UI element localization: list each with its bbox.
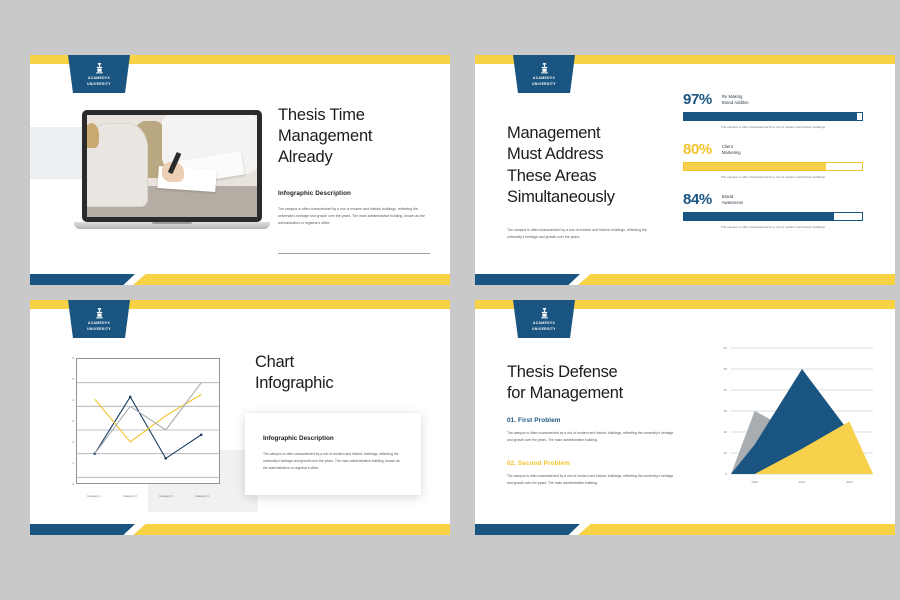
y-axis-tick-label: 2 [60, 440, 74, 444]
y-axis-tick-label: 20 [715, 430, 727, 434]
slide1-divider [278, 253, 430, 254]
stat-note: The campus is often characterized by a m… [683, 225, 863, 229]
stat-note: The campus is often characterized by a m… [683, 175, 863, 179]
bottom-accent-bar [30, 274, 450, 285]
slide2-body-text: The campus is often characterized by a m… [507, 227, 647, 241]
problem-text: The campus is often characterized by a m… [507, 430, 675, 444]
y-axis-tick-label: 6 [60, 356, 74, 360]
x-axis-tick-label: 2020 [751, 480, 758, 484]
bottom-accent-bar [475, 524, 895, 535]
logo-line-2: UNIVERSITY [87, 327, 111, 331]
problem-item-2: 02. Second Problem The campus is often c… [507, 460, 675, 487]
y-axis-tick-label: 0 [60, 482, 74, 486]
line-chart-plot-area [76, 358, 220, 484]
y-axis-tick-label: 4 [60, 398, 74, 402]
university-crest-icon [93, 307, 106, 320]
y-axis-tick-label: 10 [715, 451, 727, 455]
slide-chart-infographic[interactable]: ACAMEDYX UNIVERSITY 0123456 Category 1Ca… [30, 300, 450, 535]
slide2-title: Management Must Address These Areas Simu… [507, 123, 667, 209]
logo-line-2: UNIVERSITY [87, 82, 111, 86]
progress-bar-fill [684, 163, 826, 170]
stat-label: Client Marketing [722, 141, 741, 157]
logo-line-1: ACAMEDYX [533, 321, 555, 325]
university-logo-badge: ACAMEDYX UNIVERSITY [513, 300, 575, 338]
area-chart-series-svg [715, 342, 875, 502]
progress-bar-track [683, 112, 863, 121]
logo-line-2: UNIVERSITY [532, 327, 556, 331]
stat-percent: 97% [683, 91, 712, 108]
bottom-accent-bar [475, 274, 895, 285]
slide-deck: ACAMEDYX UNIVERSITY [0, 0, 900, 600]
university-crest-icon [93, 62, 106, 75]
logo-line-2: UNIVERSITY [532, 82, 556, 86]
problem-heading: 02. Second Problem [507, 460, 675, 467]
x-axis-tick-label: Category 2 [123, 494, 137, 498]
x-axis-tick-label: 2022 [846, 480, 853, 484]
x-axis-tick-label: Category 3 [159, 494, 173, 498]
stat-label: Re Making Brand Additve [722, 91, 749, 107]
logo-line-1: ACAMEDYX [88, 76, 110, 80]
university-logo-badge: ACAMEDYX UNIVERSITY [513, 55, 575, 93]
x-axis-tick-label: Category 4 [195, 494, 209, 498]
slide3-title: Chart Infographic [255, 352, 425, 395]
slide1-body-text: The campus is often characterized by a m… [278, 206, 430, 228]
progress-bar-fill [684, 113, 857, 120]
problem-heading: 01. First Problem [507, 417, 675, 424]
y-axis-tick-label: 50 [715, 367, 727, 371]
laptop-mockup [82, 110, 262, 229]
y-axis-tick-label: 40 [715, 388, 727, 392]
slide-thesis-time-management[interactable]: ACAMEDYX UNIVERSITY [30, 55, 450, 285]
stat-percent: 80% [683, 141, 712, 158]
line-chart: 0123456 Category 1Category 2Category 3Ca… [60, 358, 222, 498]
slide1-title: Thesis Time Management Already [278, 105, 438, 168]
progress-bar-track [683, 162, 863, 171]
university-crest-icon [538, 307, 551, 320]
logo-line-1: ACAMEDYX [533, 76, 555, 80]
photo-two-people-signing [87, 115, 257, 217]
stat-percent: 84% [683, 191, 712, 208]
slide-management-must-address[interactable]: ACAMEDYX UNIVERSITY Management Must Addr… [475, 55, 895, 285]
decorative-gray-band [30, 127, 90, 179]
laptop-screen [82, 110, 262, 222]
slide1-subtitle: Infographic Description [278, 190, 351, 197]
y-axis-tick-label: 1 [60, 461, 74, 465]
y-axis-tick-label: 0 [715, 472, 727, 476]
card-body-text: The campus is often characterized by a m… [263, 451, 405, 472]
x-axis-tick-label: Category 1 [87, 494, 101, 498]
slide-thesis-defense[interactable]: ACAMEDYX UNIVERSITY Thesis Defense for M… [475, 300, 895, 535]
problem-text: The campus is often characterized by a m… [507, 473, 675, 487]
university-crest-icon [538, 62, 551, 75]
y-axis-tick-label: 3 [60, 419, 74, 423]
slide4-title: Thesis Defense for Management [507, 362, 697, 405]
y-axis-tick-label: 30 [715, 409, 727, 413]
bottom-accent-bar [30, 524, 450, 535]
progress-bar-track [683, 212, 863, 221]
laptop-base [74, 222, 270, 229]
y-axis-tick-label: 60 [715, 346, 727, 350]
x-axis-tick-label: 2021 [799, 480, 806, 484]
university-logo-badge: ACAMEDYX UNIVERSITY [68, 55, 130, 93]
progress-bar-fill [684, 213, 834, 220]
problem-item-1: 01. First Problem The campus is often ch… [507, 417, 675, 444]
statistics-list: 97% Re Making Brand Additve The campus i… [683, 91, 863, 241]
stat-note: The campus is often characterized by a m… [683, 125, 863, 129]
area-chart: 0102030405060 202020212022 [715, 342, 875, 502]
card-title: Infographic Description [263, 435, 334, 442]
university-logo-badge: ACAMEDYX UNIVERSITY [68, 300, 130, 338]
stat-label: Brand Awareness [722, 191, 743, 207]
stat-item: 80% Client Marketing The campus is often… [683, 141, 863, 179]
description-card: Infographic Description The campus is of… [245, 413, 421, 495]
stat-item: 84% Brand Awareness The campus is often … [683, 191, 863, 229]
y-axis-tick-label: 5 [60, 377, 74, 381]
logo-line-1: ACAMEDYX [88, 321, 110, 325]
stat-item: 97% Re Making Brand Additve The campus i… [683, 91, 863, 129]
line-chart-series-svg [77, 359, 219, 501]
